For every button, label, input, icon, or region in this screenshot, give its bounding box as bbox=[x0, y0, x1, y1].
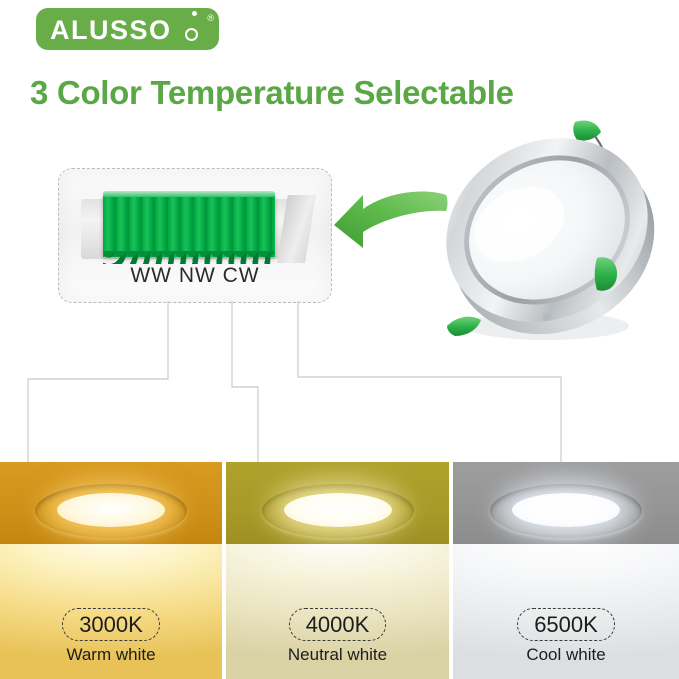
ceiling-surface bbox=[0, 462, 222, 544]
panel-cool-white: 6500K Cool white bbox=[453, 462, 679, 679]
light-lens bbox=[284, 493, 392, 527]
logo-spark-icon bbox=[192, 11, 197, 16]
connector-lines bbox=[0, 295, 679, 465]
light-lens bbox=[512, 493, 620, 527]
logo-o-dot-icon bbox=[185, 28, 198, 41]
registered-trademark-icon: ® bbox=[207, 14, 214, 23]
panel-warm-white: 3000K Warm white bbox=[0, 462, 222, 679]
switch-dial-ridges-icon bbox=[103, 251, 275, 263]
brand-logo-text: ALUSSO bbox=[50, 15, 172, 46]
kelvin-badge: 3000K bbox=[62, 608, 160, 642]
light-lens bbox=[57, 493, 165, 527]
kelvin-badge: 6500K bbox=[517, 608, 615, 642]
color-temperature-name: Warm white bbox=[0, 645, 222, 665]
ceiling-surface bbox=[226, 462, 449, 544]
color-temperature-switch[interactable]: WW NW CW bbox=[58, 168, 332, 303]
page-title: 3 Color Temperature Selectable bbox=[30, 74, 514, 112]
color-temperature-name: Neutral white bbox=[226, 645, 449, 665]
kelvin-badge: 4000K bbox=[289, 608, 387, 642]
switch-mode-labels: WW NW CW bbox=[59, 264, 331, 288]
color-temperature-name: Cool white bbox=[453, 645, 679, 665]
infographic-canvas: ALUSSO ® 3 Color Temperature Selectable … bbox=[0, 0, 679, 679]
brand-logo: ALUSSO ® bbox=[36, 8, 219, 50]
ceiling-surface bbox=[453, 462, 679, 544]
color-temperature-panels: 3000K Warm white 4000K Neutral white 650 bbox=[0, 462, 679, 679]
panel-neutral-white: 4000K Neutral white bbox=[226, 462, 449, 679]
switch-dial[interactable] bbox=[103, 194, 275, 257]
